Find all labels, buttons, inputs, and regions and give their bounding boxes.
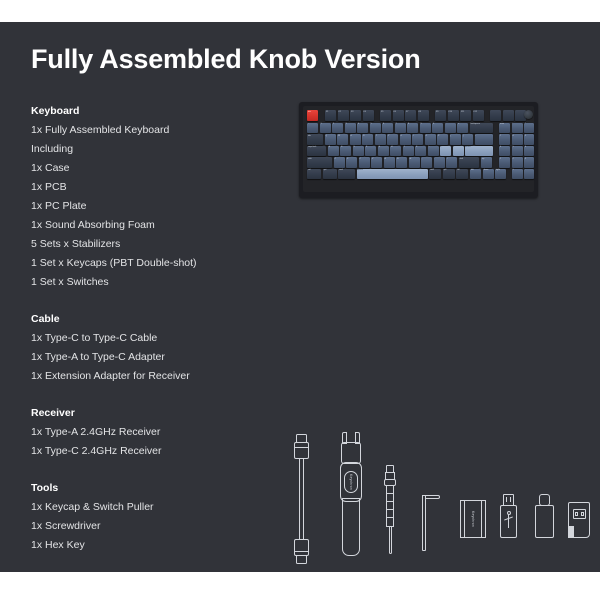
keycap[interactable]: 6 (524, 146, 534, 157)
keycap[interactable]: 4 (499, 146, 510, 157)
keycap-label: B (385, 158, 386, 161)
keycap-label: F9 (436, 111, 438, 114)
spec-section-receiver: Receiver 1x Type-A 2.4GHz Receiver 1x Ty… (31, 404, 301, 461)
keycap-label: 4 (500, 146, 501, 149)
keycap-label: 0 (513, 169, 514, 172)
keycap-label: F5 (381, 111, 383, 114)
keycap-label: F2 (339, 111, 341, 114)
keycap[interactable]: Q (325, 134, 336, 145)
keycap-label: ctrl (457, 169, 460, 172)
keycap-label: D (354, 146, 355, 149)
keycap[interactable]: / (512, 123, 523, 134)
keycap[interactable]: down (483, 169, 494, 180)
keycap[interactable]: I (412, 134, 423, 145)
keycap-label: esc (308, 111, 311, 114)
keycap[interactable]: 5 (370, 123, 381, 134)
keycap[interactable]: F5 (380, 110, 391, 121)
keycap[interactable]: W (337, 134, 348, 145)
keycap-label: \ (476, 135, 477, 138)
keycap[interactable]: 8 (407, 123, 418, 134)
spec-item: 1x Type-A to Type-C Adapter (31, 348, 301, 367)
keycap[interactable]: - (445, 123, 456, 134)
keycap[interactable]: C (359, 157, 370, 168)
keycap-label: C (360, 158, 361, 161)
keycap-label: ctrl (308, 169, 311, 172)
keycap[interactable]: . (434, 157, 445, 168)
keycap[interactable]: = (457, 123, 468, 134)
keycap[interactable]: F2 (338, 110, 349, 121)
keycap[interactable]: A (328, 146, 339, 157)
keycap[interactable]: [ (450, 134, 461, 145)
keycap-label: 5 (513, 146, 514, 149)
page-title: Fully Assembled Knob Version (31, 44, 421, 75)
section-heading: Tools (31, 479, 301, 498)
keycap[interactable]: G (378, 146, 389, 157)
keycap[interactable]: opt (443, 169, 455, 180)
keycap[interactable]: B (384, 157, 395, 168)
keycap[interactable]: \ (475, 134, 494, 145)
keycap-label: left (471, 169, 474, 172)
keycap[interactable]: 9 (524, 134, 534, 145)
adapter-brand-label: Keychron (471, 507, 475, 531)
keycap[interactable]: ~ (307, 123, 318, 134)
keycap-label: 9 (421, 123, 422, 126)
keycap[interactable]: V (371, 157, 382, 168)
keycap[interactable]: . (524, 169, 534, 180)
keycap[interactable]: esc (307, 110, 318, 121)
keycap[interactable]: / (446, 157, 457, 168)
keycap[interactable]: U (400, 134, 411, 145)
keycap-label: tab (308, 135, 311, 138)
keycap[interactable]: F4 (363, 110, 374, 121)
keycap-label: - (446, 123, 447, 126)
keycap-label: ; (441, 146, 442, 149)
volume-knob-icon (524, 110, 533, 119)
keycap[interactable]: left (470, 169, 481, 180)
keycap[interactable]: ctrl (307, 169, 321, 180)
keycap-label: F6 (394, 111, 396, 114)
keycap-label: / (447, 158, 448, 161)
keycap-label: Y (388, 135, 389, 138)
keycap-label: F8 (419, 111, 421, 114)
keycap-label: F12 (474, 111, 477, 114)
keycap[interactable]: 3 (524, 157, 534, 168)
keycap[interactable]: F11 (460, 110, 471, 121)
keycap-label: . (435, 158, 436, 161)
keyboard-product-image: escF1F2F3F4F5F6F7F8F9F10F11F12~123456789… (299, 102, 538, 198)
keycap[interactable]: F12 (473, 110, 484, 121)
keycap[interactable]: caps lock (307, 146, 326, 157)
keycap-label: 8 (408, 123, 409, 126)
keycap-label: R (363, 135, 364, 138)
keycap[interactable]: Y (387, 134, 398, 145)
spec-item: 1x Type-C 2.4GHz Receiver (31, 442, 301, 461)
spec-item: 1x PC Plate (31, 197, 301, 216)
spec-item: 1 Set x Switches (31, 273, 301, 292)
keycap[interactable]: X (346, 157, 357, 168)
keycap[interactable]: 0 (432, 123, 443, 134)
spec-item: 1x Keycap & Switch Puller (31, 498, 301, 517)
keycap-label: 5 (371, 123, 372, 126)
keycap[interactable]: ' (453, 146, 464, 157)
keycap-label: K (416, 146, 417, 149)
keycap[interactable]: L (428, 146, 439, 157)
keycap[interactable]: 3 (345, 123, 356, 134)
spec-item: 1x Screwdriver (31, 517, 301, 536)
keycap-label: V (372, 158, 373, 161)
keycap[interactable]: * (524, 123, 534, 134)
keycap[interactable]: shift (307, 157, 332, 168)
keycap[interactable]: Z (334, 157, 345, 168)
keycap[interactable]: F9 (435, 110, 446, 121)
keycap[interactable]: P (437, 134, 448, 145)
keycap-label: 6 (525, 146, 526, 149)
keycap-label: F1 (326, 111, 328, 114)
keycap-label: 1 (500, 158, 501, 161)
keycap-label: . (525, 169, 526, 172)
spec-item: 1 Set x Keycaps (PBT Double-shot) (31, 254, 301, 273)
keycap[interactable]: 2 (332, 123, 343, 134)
accessories-image: Keychron Keychron (288, 422, 573, 572)
keycap[interactable]: 1 (320, 123, 331, 134)
spec-item: 1x PCB (31, 178, 301, 197)
keycap-label: num (500, 123, 504, 126)
section-heading: Cable (31, 310, 301, 329)
keycap-label: 1 (321, 123, 322, 126)
keycap-label: down (484, 169, 489, 172)
keycap[interactable]: opt (323, 169, 337, 180)
keycap[interactable]: right (495, 169, 506, 180)
keycap-label: 2 (513, 158, 514, 161)
spec-section-keyboard: Keyboard 1x Fully Assembled Keyboard Inc… (31, 102, 301, 292)
keycap[interactable]: 1 (499, 157, 510, 168)
keycap-label: 6 (383, 123, 384, 126)
keycap-label: F7 (406, 111, 408, 114)
keycap[interactable]: cmd (338, 169, 355, 180)
keycap-label: * (525, 123, 526, 126)
keycap[interactable]: H (390, 146, 401, 157)
keycap[interactable]: num (499, 123, 510, 134)
keycap[interactable]: ] (462, 134, 473, 145)
spec-item: 1x Sound Absorbing Foam (31, 216, 301, 235)
keycap[interactable] (490, 110, 501, 121)
keycap-label: 7 (500, 135, 501, 138)
keycap[interactable]: F8 (418, 110, 429, 121)
spec-item: 1x Extension Adapter for Receiver (31, 367, 301, 386)
keycap-label: O (426, 135, 428, 138)
keycap-label: H (391, 146, 392, 149)
spec-item: 1x Case (31, 159, 301, 178)
keycap-label: Q (326, 135, 328, 138)
keycap[interactable]: D (353, 146, 364, 157)
keycap-label: F10 (449, 111, 452, 114)
keycap-label: 3 (346, 123, 347, 126)
keycap-label: shift (460, 158, 464, 161)
keycap[interactable]: 6 (382, 123, 393, 134)
keycap[interactable]: F3 (350, 110, 361, 121)
keycap[interactable]: ; (440, 146, 451, 157)
keycap-label: 7 (396, 123, 397, 126)
keycap[interactable]: 7 (499, 134, 510, 145)
keycap-label: backspace (471, 123, 481, 126)
keycap[interactable]: N (396, 157, 407, 168)
keycap-label: U (401, 135, 402, 138)
keycap-label: L (429, 146, 430, 149)
keycap-label: P (438, 135, 439, 138)
keycap-label: W (338, 135, 340, 138)
keycap-label: 3 (525, 158, 526, 161)
keycap[interactable]: ctrl (456, 169, 468, 180)
keycap[interactable]: cmd (429, 169, 441, 180)
keycap-label: opt (444, 169, 447, 172)
keycap[interactable]: 2 (512, 157, 523, 168)
spec-item: 1x Type-C to Type-C Cable (31, 329, 301, 348)
keycap-label: right (496, 169, 500, 172)
keycap-label: 0 (433, 123, 434, 126)
keycap-label: [ (451, 135, 452, 138)
section-heading: Receiver (31, 404, 301, 423)
spec-item: 1x Fully Assembled Keyboard (31, 121, 301, 140)
keyboard-plate: escF1F2F3F4F5F6F7F8F9F10F11F12~123456789… (303, 106, 534, 192)
keycap[interactable]: E (350, 134, 361, 145)
keycap[interactable]: F (365, 146, 376, 157)
keycap-label: F3 (351, 111, 353, 114)
keycap[interactable]: , (421, 157, 432, 168)
keycap[interactable]: 8 (512, 134, 523, 145)
spec-section-tools: Tools 1x Keycap & Switch Puller 1x Screw… (31, 479, 301, 555)
keycap-label: space (358, 169, 363, 172)
keycap[interactable]: tab (307, 134, 323, 145)
keycap-label: 4 (358, 123, 359, 126)
keycap[interactable]: F1 (325, 110, 336, 121)
keycap-label: S (341, 146, 342, 149)
keycap[interactable]: K (415, 146, 426, 157)
keycap-label: / (513, 123, 514, 126)
spec-panel: Fully Assembled Knob Version Keyboard 1x… (0, 22, 600, 572)
keycap[interactable]: space (357, 169, 428, 180)
keycap[interactable]: F6 (393, 110, 404, 121)
keycap-label: N (397, 158, 398, 161)
spec-item: Including (31, 140, 301, 159)
keycap[interactable]: shift (459, 157, 479, 168)
keycap[interactable]: up (481, 157, 492, 168)
keycap-label: enter (466, 146, 471, 149)
keycap-label: ] (463, 135, 464, 138)
keycap-label: cmd (430, 169, 434, 172)
keycap[interactable]: T (375, 134, 386, 145)
puller-brand-label: Keychron (349, 466, 353, 498)
keycap-label: E (351, 135, 352, 138)
keycap-label: F4 (364, 111, 366, 114)
keycap-label: caps lock (308, 146, 316, 149)
keycap-label: 8 (513, 135, 514, 138)
keycap[interactable]: F10 (448, 110, 459, 121)
keycap[interactable]: enter (465, 146, 493, 157)
keycap[interactable]: 9 (420, 123, 431, 134)
keycap[interactable]: 4 (357, 123, 368, 134)
keycap-label: , (422, 158, 423, 161)
keycap[interactable]: M (409, 157, 420, 168)
keycap-label: 9 (525, 135, 526, 138)
keycap-label: shift (308, 158, 312, 161)
keycap-label: M (410, 158, 412, 161)
keycap-label: = (458, 123, 459, 126)
keycap[interactable]: O (425, 134, 436, 145)
spec-section-cable: Cable 1x Type-C to Type-C Cable 1x Type-… (31, 310, 301, 386)
keycap[interactable]: 0 (512, 169, 523, 180)
keycap[interactable] (503, 110, 514, 121)
spec-item: 1x Hex Key (31, 536, 301, 555)
keycap[interactable]: 5 (512, 146, 523, 157)
spec-item: 1x Type-A 2.4GHz Receiver (31, 423, 301, 442)
keycap-label: 2 (333, 123, 334, 126)
keycap[interactable]: S (340, 146, 351, 157)
keycap-label: A (329, 146, 330, 149)
keycap-label: I (413, 135, 414, 138)
keycap-label: F11 (461, 111, 464, 114)
keycap-label: G (379, 146, 381, 149)
spec-item: 5 Sets x Stabilizers (31, 235, 301, 254)
keycap-label: up (482, 158, 484, 161)
keycap-label: cmd (339, 169, 343, 172)
keycap[interactable]: 7 (395, 123, 406, 134)
keycap-label: F (366, 146, 367, 149)
keycap-label: Z (335, 158, 336, 161)
keycap-label: T (376, 135, 377, 138)
keycap-label: X (347, 158, 348, 161)
keycap[interactable]: R (362, 134, 373, 145)
section-heading: Keyboard (31, 102, 301, 121)
keycap[interactable]: F7 (405, 110, 416, 121)
keycap[interactable]: J (403, 146, 414, 157)
keycap-label: opt (324, 169, 327, 172)
keycap-label: ~ (308, 123, 309, 126)
keycap[interactable]: backspace (470, 123, 494, 134)
keycap-label: J (404, 146, 405, 149)
